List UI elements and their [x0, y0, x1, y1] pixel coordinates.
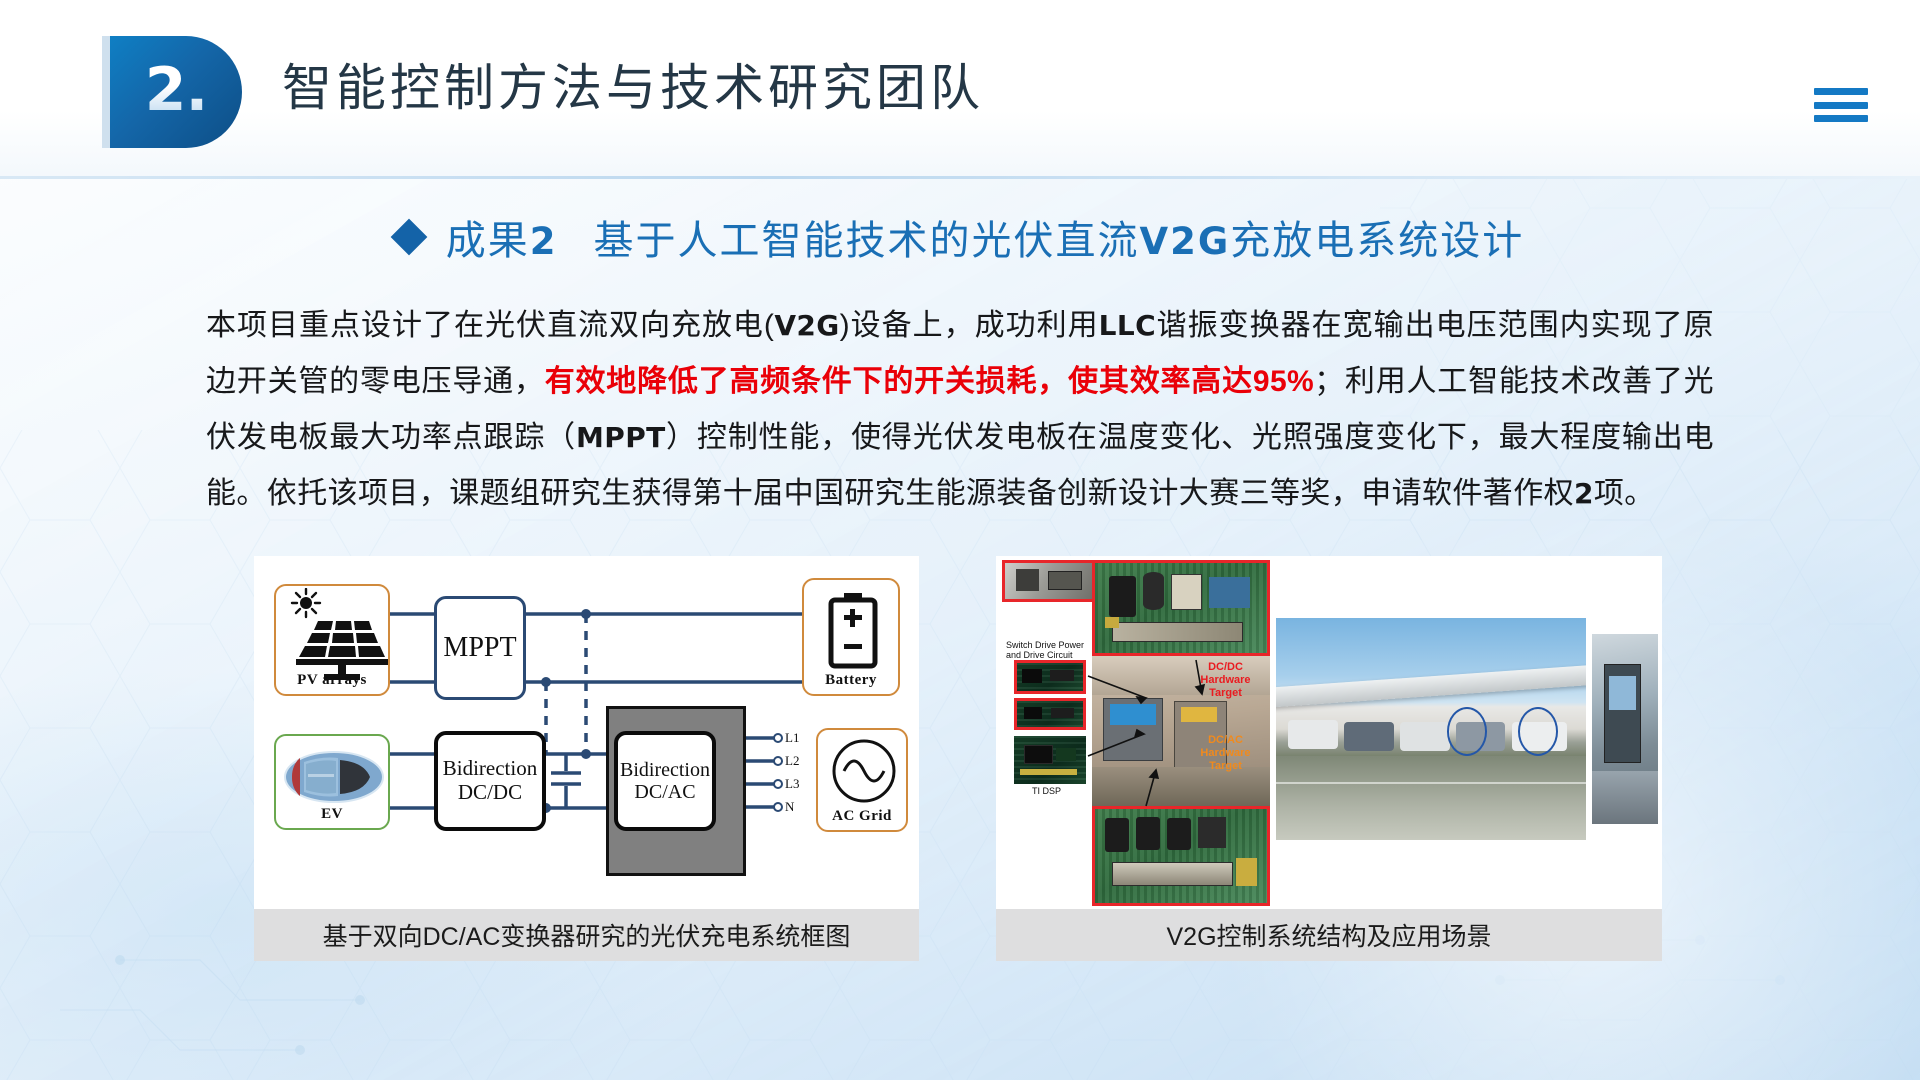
slide-header: 2. 智能控制方法与技术研究团队	[0, 0, 1920, 178]
body-seg-2: )设备上，成功利用	[840, 309, 1099, 342]
diamond-bullet-icon	[390, 219, 427, 256]
body-paragraph: 本项目重点设计了在光伏直流双向充放电(V2G)设备上，成功利用LLC谐振变换器在…	[206, 298, 1714, 522]
subtitle-acronym: V2G	[1140, 220, 1231, 263]
photo-solar-carport	[1276, 618, 1586, 840]
body-acronym-llc: LLC	[1099, 309, 1156, 342]
electric-vehicle-icon	[278, 740, 390, 814]
dcdc-hardware-target-label: DC/DC Hardware Target	[1185, 661, 1267, 701]
battery-icon	[804, 584, 902, 682]
body-seg-1: 本项目重点设计了在光伏直流双向充放电(	[206, 309, 774, 342]
figure-right-caption: V2G控制系统结构及应用场景	[996, 909, 1662, 961]
body-paragraph-wrapper: 本项目重点设计了在光伏直流双向充放电(V2G)设备上，成功利用LLC谐振变换器在…	[206, 298, 1714, 522]
header-divider	[0, 176, 1920, 179]
page-title: 智能控制方法与技术研究团队	[282, 48, 984, 120]
section-number-text: 2.	[145, 60, 208, 120]
hamburger-bar-1	[1814, 88, 1868, 95]
mppt-block: MPPT	[434, 596, 526, 700]
pin-label-l2: L2	[785, 753, 799, 769]
photo-lab-setup: DC/DC Hardware Target DC/AC Hardware Tar…	[1092, 656, 1270, 806]
photo-charging-station	[1592, 634, 1658, 824]
section-number-badge: 2.	[110, 36, 242, 148]
subtitle-row: 成果2 基于人工智能技术的光伏直流V2G充放电系统设计	[0, 206, 1920, 268]
switch-drive-label: Switch Drive Power and Drive Circuit	[1006, 640, 1090, 661]
figure-left-canvas: PV arrays MPPT	[254, 556, 919, 909]
battery-label: Battery	[804, 672, 898, 689]
body-acronym-mppt: MPPT	[576, 421, 666, 454]
bidirectional-dcdc-block: Bidirection DC/DC	[434, 731, 546, 831]
photo-driver-board-2	[1014, 698, 1086, 730]
subtitle-text: 成果2 基于人工智能技术的光伏直流V2G充放电系统设计	[446, 208, 1525, 266]
subtitle-prefix: 成果	[446, 218, 530, 263]
ac-grid-label: AC Grid	[818, 808, 906, 825]
figure-right-canvas: DC/DC Hardware Target DC/AC Hardware Tar…	[996, 556, 1662, 909]
photo-ti-dsp-board	[1014, 736, 1086, 784]
battery-node: Battery	[802, 578, 900, 696]
body-highlight-efficiency: 有效地降低了高频条件下的开关损耗，使其效率高达95%	[545, 365, 1314, 398]
photo-pcb-main	[1092, 560, 1270, 656]
figure-left-panel: PV arrays MPPT	[254, 556, 919, 961]
ev-node: EV	[274, 734, 390, 830]
pin-label-n: N	[785, 799, 794, 815]
slide-root: 2. 智能控制方法与技术研究团队 成果2 基于人工智能技术的光伏直流V2G充放电…	[0, 0, 1920, 1080]
body-seg-6: 项。	[1594, 477, 1655, 510]
ti-dsp-label: TI DSP	[1032, 786, 1061, 796]
pv-arrays-label: PV arrays	[276, 672, 388, 689]
mppt-label: MPPT	[443, 632, 516, 663]
bidirectional-dcac-block: Bidirection DC/AC	[614, 731, 716, 831]
solar-panel-icon	[276, 588, 392, 680]
ac-source-icon	[820, 734, 908, 812]
subtitle-part-a: 基于人工智能技术的光伏直流	[594, 218, 1140, 263]
body-number-copyrights: 2	[1574, 477, 1594, 510]
ac-grid-node: AC Grid	[816, 728, 908, 832]
dcac-label-line1: Bidirection	[620, 759, 710, 781]
pin-label-l3: L3	[785, 776, 799, 792]
photo-pcb-bottom	[1092, 806, 1270, 906]
body-acronym-v2g: V2G	[774, 309, 839, 342]
dcdc-label-line1: Bidirection	[443, 757, 537, 781]
hamburger-menu-icon[interactable]	[1814, 88, 1868, 122]
dcdc-label-line2: DC/DC	[443, 781, 537, 805]
photo-driver-board-1	[1014, 660, 1086, 694]
subtitle-prefix-number: 2	[530, 220, 558, 263]
figure-right-panel: DC/DC Hardware Target DC/AC Hardware Tar…	[996, 556, 1662, 961]
hamburger-bar-2	[1814, 102, 1868, 109]
ev-label: EV	[276, 806, 388, 823]
section-number-accent-bar	[102, 36, 110, 148]
hamburger-bar-3	[1814, 115, 1868, 122]
pin-label-l1: L1	[785, 730, 799, 746]
pv-arrays-node: PV arrays	[274, 584, 390, 696]
subtitle-part-b: 充放电系统设计	[1230, 218, 1524, 263]
dcac-label-line2: DC/AC	[620, 781, 710, 803]
photo-pcb-top	[1002, 560, 1098, 602]
dcac-hardware-target-label: DC/AC Hardware Target	[1185, 734, 1267, 774]
figure-left-caption: 基于双向DC/AC变换器研究的光伏充电系统框图	[254, 909, 919, 961]
